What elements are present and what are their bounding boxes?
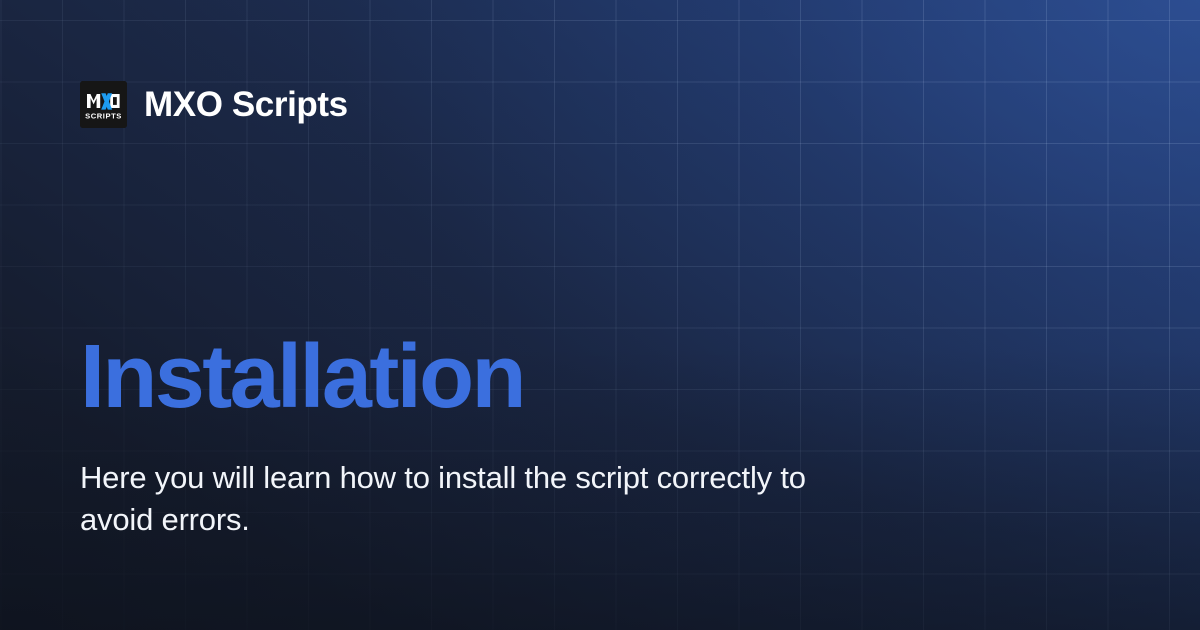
og-card: SCRIPTS MXO Scripts Installation Here yo… bbox=[0, 0, 1200, 630]
hero-section: Installation Here you will learn how to … bbox=[80, 330, 980, 540]
card-content: SCRIPTS MXO Scripts Installation Here yo… bbox=[0, 0, 1200, 630]
page-subtitle: Here you will learn how to install the s… bbox=[80, 457, 840, 540]
page-title: Installation bbox=[80, 330, 980, 425]
brand-header[interactable]: SCRIPTS MXO Scripts bbox=[80, 81, 348, 128]
brand-name: MXO Scripts bbox=[144, 87, 348, 122]
mxo-scripts-logo-icon[interactable]: SCRIPTS bbox=[80, 81, 127, 128]
svg-text:SCRIPTS: SCRIPTS bbox=[85, 111, 122, 120]
